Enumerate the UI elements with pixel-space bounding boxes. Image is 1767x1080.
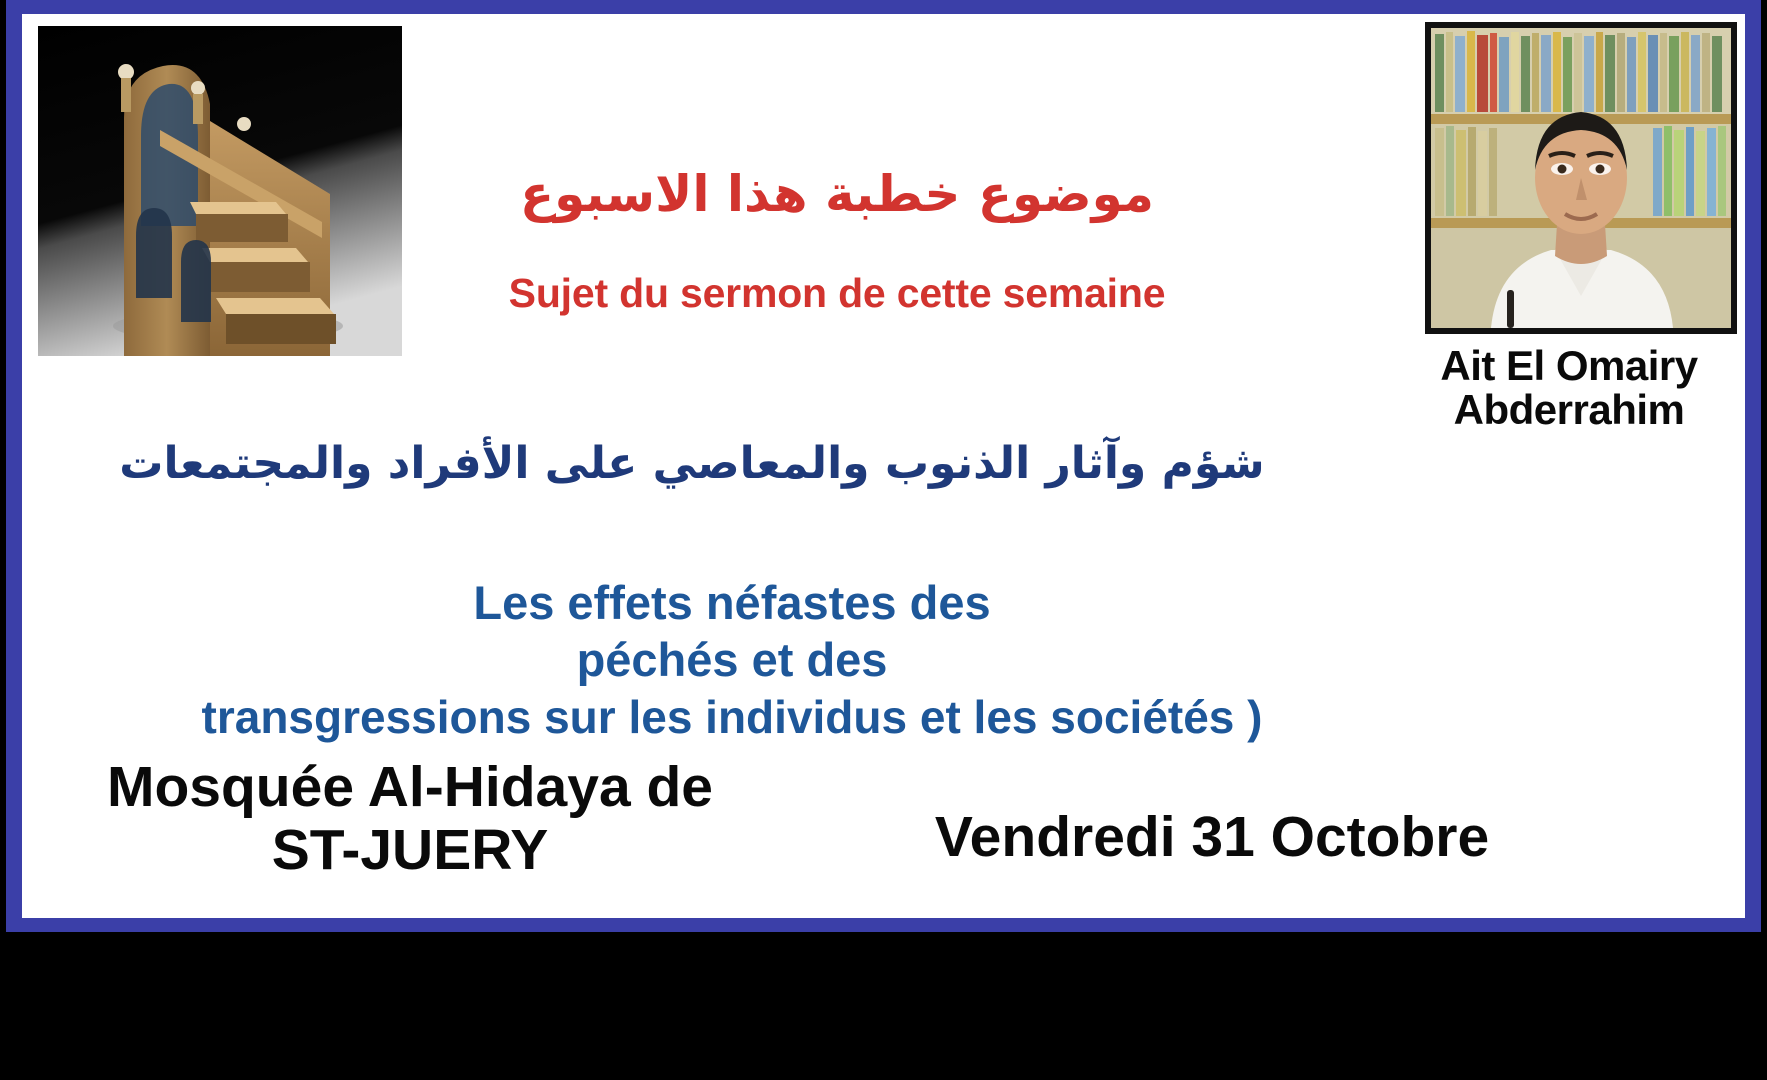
topic-french-line3: transgressions sur les individus et les … bbox=[22, 689, 1442, 745]
poster-content: Ait El Omairy Abderrahim موضوع خطبة هذا … bbox=[22, 14, 1745, 918]
mosque-name: Mosquée Al-Hidaya de ST-JUERY bbox=[30, 756, 790, 881]
topic-french-line2: péchés et des bbox=[22, 631, 1442, 688]
poster-root: Ait El Omairy Abderrahim موضوع خطبة هذا … bbox=[0, 0, 1767, 1080]
speaker-name: Ait El Omairy Abderrahim bbox=[1399, 344, 1739, 432]
mosque-name-line2: ST-JUERY bbox=[272, 818, 549, 882]
topic-french-line1: Les effets néfastes des bbox=[22, 574, 1442, 631]
sermon-heading: موضوع خطبة هذا الاسبوع Sujet du sermon d… bbox=[422, 164, 1252, 317]
topic-french: Les effets néfastes des péchés et des tr… bbox=[22, 574, 1442, 745]
minbar-illustration bbox=[38, 26, 402, 356]
speaker-portrait-illustration bbox=[1431, 28, 1731, 328]
minbar-pulpit-image bbox=[38, 26, 402, 356]
sermon-heading-french: Sujet du sermon de cette semaine bbox=[422, 270, 1252, 317]
sermon-heading-arabic: موضوع خطبة هذا الاسبوع bbox=[422, 164, 1252, 224]
speaker-portrait-photo bbox=[1425, 22, 1737, 334]
bottom-black-bar bbox=[0, 932, 1767, 1080]
topic-arabic: شؤم وآثار الذنوب والمعاصي على الأفراد وا… bbox=[22, 438, 1362, 489]
mosque-name-line1: Mosquée Al-Hidaya de bbox=[107, 755, 713, 819]
speaker-name-line1: Ait El Omairy bbox=[1440, 342, 1697, 389]
sermon-date: Vendredi 31 Octobre bbox=[852, 804, 1572, 870]
blue-frame: Ait El Omairy Abderrahim موضوع خطبة هذا … bbox=[6, 0, 1761, 932]
speaker-name-line2: Abderrahim bbox=[1454, 386, 1685, 433]
